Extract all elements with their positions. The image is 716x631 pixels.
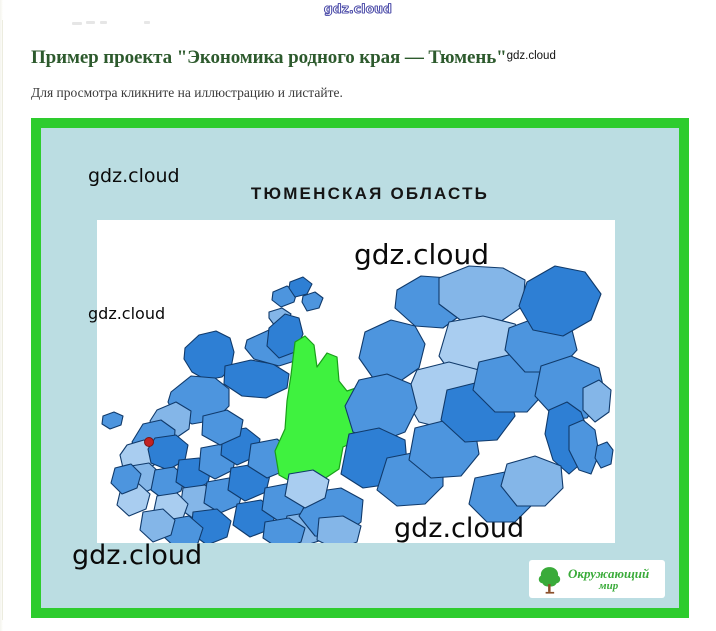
illustration-frame[interactable]: ТЮМЕНСКАЯ ОБЛАСТЬ <box>31 118 689 618</box>
overlay-watermark-top-left: gdz.cloud <box>88 165 180 187</box>
brand-logo: Окружающий мир <box>529 560 665 598</box>
map-region-kaliningrad <box>102 412 123 429</box>
map-region <box>359 320 425 382</box>
slide-heading: ТЮМЕНСКАЯ ОБЛАСТЬ <box>41 184 679 204</box>
page-title-text: Пример проекта "Экономика родного края —… <box>31 47 507 68</box>
page-edge-line <box>2 20 3 620</box>
map-island <box>302 292 323 311</box>
illustration-slide[interactable]: ТЮМЕНСКАЯ ОБЛАСТЬ <box>41 128 679 608</box>
overlay-watermark-mid-left: gdz.cloud <box>88 304 165 323</box>
page-subtitle: Для просмотра кликните на иллюстрацию и … <box>31 85 343 101</box>
map-island-sakhalin <box>595 442 613 468</box>
brand-logo-text: Окружающий мир <box>568 567 649 592</box>
overlay-watermark-bottom-right: gdz.cloud <box>394 513 524 544</box>
inline-watermark: gdz.cloud <box>507 50 556 62</box>
overlay-watermark-bottom-left: gdz.cloud <box>72 540 202 571</box>
page-title: Пример проекта "Экономика родного края —… <box>31 47 556 69</box>
top-watermark: gdz.cloud <box>0 2 716 16</box>
brand-logo-line1: Окружающий <box>568 567 649 580</box>
tree-icon <box>534 564 565 595</box>
brand-logo-line2: мир <box>568 581 649 592</box>
map-region <box>519 266 601 336</box>
clipped-text-artifact <box>62 18 182 30</box>
map-region <box>501 456 563 506</box>
map-capital-marker <box>145 438 154 447</box>
overlay-watermark-top-center: gdz.cloud <box>354 238 489 271</box>
